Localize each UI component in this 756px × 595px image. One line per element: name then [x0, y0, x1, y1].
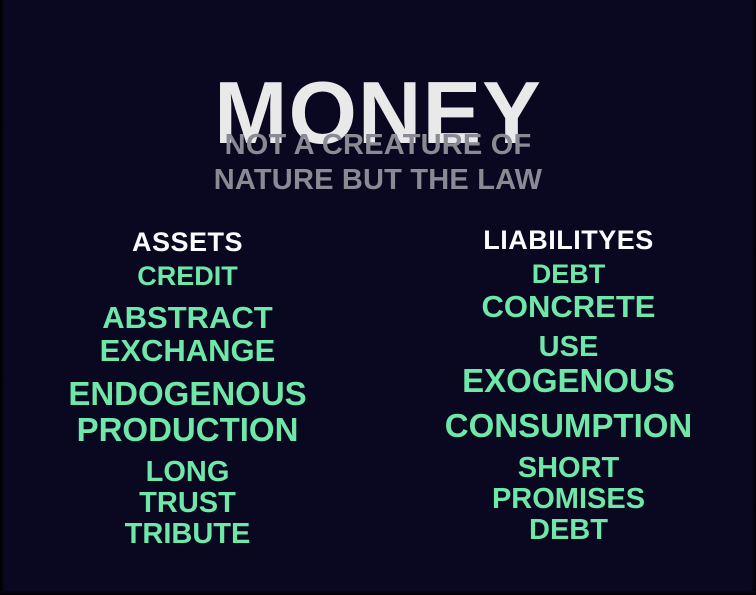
column-liabilities: LIABILITYES DEBT CONCRETE USE EXOGENOUS … [375, 226, 756, 546]
liabilities-term-debt-2: DEBT [381, 515, 756, 546]
assets-term-tribute: TRIBUTE [0, 519, 375, 550]
liabilities-group-2: USE EXOGENOUS [381, 332, 756, 399]
assets-term-abstract: ABSTRACT [0, 301, 375, 334]
liabilities-group-1: DEBT CONCRETE [381, 260, 756, 323]
liabilities-term-use: USE [381, 332, 756, 363]
page-subtitle: NOT A CREATURE OF NATURE BUT THE LAW [0, 128, 756, 199]
assets-term-exchange: EXCHANGE [0, 334, 375, 367]
column-heading-liabilities: LIABILITYES [381, 226, 756, 254]
liabilities-term-exogenous: EXOGENOUS [381, 363, 756, 399]
liabilities-group-4: SHORT PROMISES DEBT [381, 453, 756, 547]
slide-canvas: MONEY NOT A CREATURE OF NATURE BUT THE L… [0, 0, 756, 595]
liabilities-term-short: SHORT [381, 453, 756, 484]
column-heading-assets: ASSETS [0, 228, 375, 256]
liabilities-term-concrete: CONCRETE [381, 290, 756, 323]
subtitle-line-1: NOT A CREATURE OF [0, 128, 756, 163]
assets-group-2: ABSTRACT EXCHANGE [0, 301, 375, 368]
assets-term-credit: CREDIT [0, 262, 375, 291]
liabilities-term-promises: PROMISES [381, 484, 756, 515]
columns-container: ASSETS CREDIT ABSTRACT EXCHANGE ENDOGENO… [0, 228, 756, 551]
liabilities-group-3: CONSUMPTION [381, 408, 756, 444]
assets-group-4: LONG TRUST TRIBUTE [0, 457, 375, 551]
assets-group-1: CREDIT [0, 262, 375, 291]
assets-group-3: ENDOGENOUS PRODUCTION [0, 376, 375, 447]
column-assets: ASSETS CREDIT ABSTRACT EXCHANGE ENDOGENO… [0, 228, 375, 551]
assets-term-trust: TRUST [0, 488, 375, 519]
assets-term-production: PRODUCTION [0, 412, 375, 448]
bottom-edge-border [0, 591, 756, 595]
subtitle-line-2: NATURE BUT THE LAW [0, 163, 756, 198]
assets-term-long: LONG [0, 457, 375, 488]
liabilities-term-consumption: CONSUMPTION [381, 408, 756, 444]
assets-term-endogenous: ENDOGENOUS [0, 376, 375, 412]
liabilities-term-debt: DEBT [381, 260, 756, 289]
